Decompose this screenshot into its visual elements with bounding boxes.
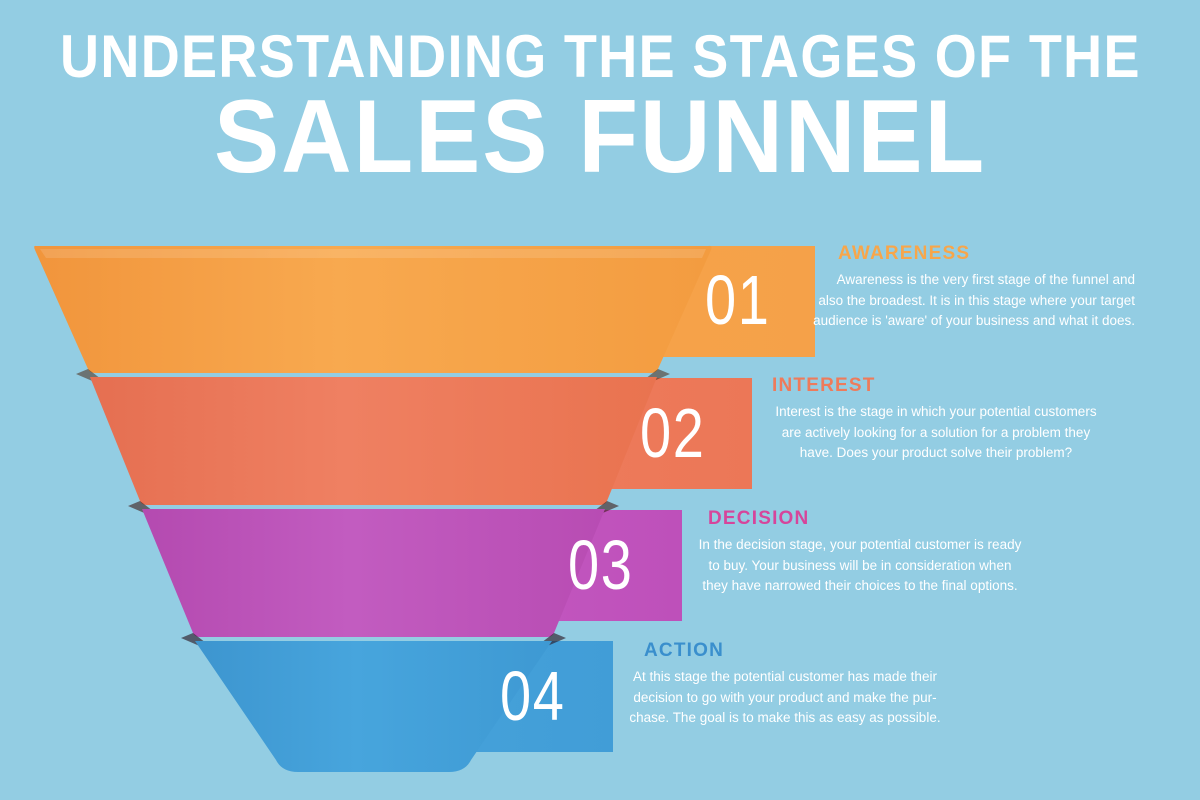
stage-number-03: 03 — [568, 530, 634, 600]
desc-line: audience is 'aware' of your business and… — [800, 311, 1135, 332]
funnel-segment-action[interactable] — [195, 641, 552, 772]
stage-number-04: 04 — [500, 661, 566, 731]
stage-label-decision: DECISION — [670, 508, 1050, 530]
funnel-segment-awareness[interactable] — [34, 246, 711, 373]
desc-line: have. Does your product solve their prob… — [740, 443, 1132, 464]
funnel-top-highlight — [40, 249, 706, 258]
infographic-canvas: UNDERSTANDING THE STAGES OF THE SALES FU… — [0, 0, 1200, 800]
stage-text-action: ACTION At this stage the potential custo… — [600, 640, 970, 729]
stage-description-interest: Interest is the stage in which your pote… — [740, 402, 1132, 464]
desc-line: In the decision stage, your potential cu… — [670, 535, 1050, 556]
stage-label-action: ACTION — [600, 640, 970, 662]
funnel-segment-decision[interactable] — [142, 509, 605, 637]
funnel-segment-interest[interactable] — [90, 377, 657, 505]
desc-line: At this stage the potential customer has… — [600, 667, 970, 688]
desc-line: they have narrowed their choices to the … — [670, 576, 1050, 597]
desc-line: Interest is the stage in which your pote… — [740, 402, 1132, 423]
stage-text-interest: INTEREST Interest is the stage in which … — [740, 375, 1132, 464]
stage-description-action: At this stage the potential customer has… — [600, 667, 970, 729]
stage-text-decision: DECISION In the decision stage, your pot… — [670, 508, 1050, 597]
stage-text-awareness: AWARENESS Awareness is the very first st… — [800, 243, 1135, 332]
stage-label-awareness: AWARENESS — [800, 243, 1135, 265]
stage-description-awareness: Awareness is the very first stage of the… — [800, 270, 1135, 332]
desc-line: Awareness is the very first stage of the… — [800, 270, 1135, 291]
stage-description-decision: In the decision stage, your potential cu… — [670, 535, 1050, 597]
desc-line: are actively looking for a solution for … — [740, 423, 1132, 444]
desc-line: also the broadest. It is in this stage w… — [800, 291, 1135, 312]
stage-label-interest: INTEREST — [740, 375, 1132, 397]
stage-number-02: 02 — [640, 398, 706, 468]
desc-line: to buy. Your business will be in conside… — [670, 556, 1050, 577]
stage-number-01: 01 — [705, 265, 771, 335]
desc-line: chase. The goal is to make this as easy … — [600, 708, 970, 729]
desc-line: decision to go with your product and mak… — [600, 688, 970, 709]
